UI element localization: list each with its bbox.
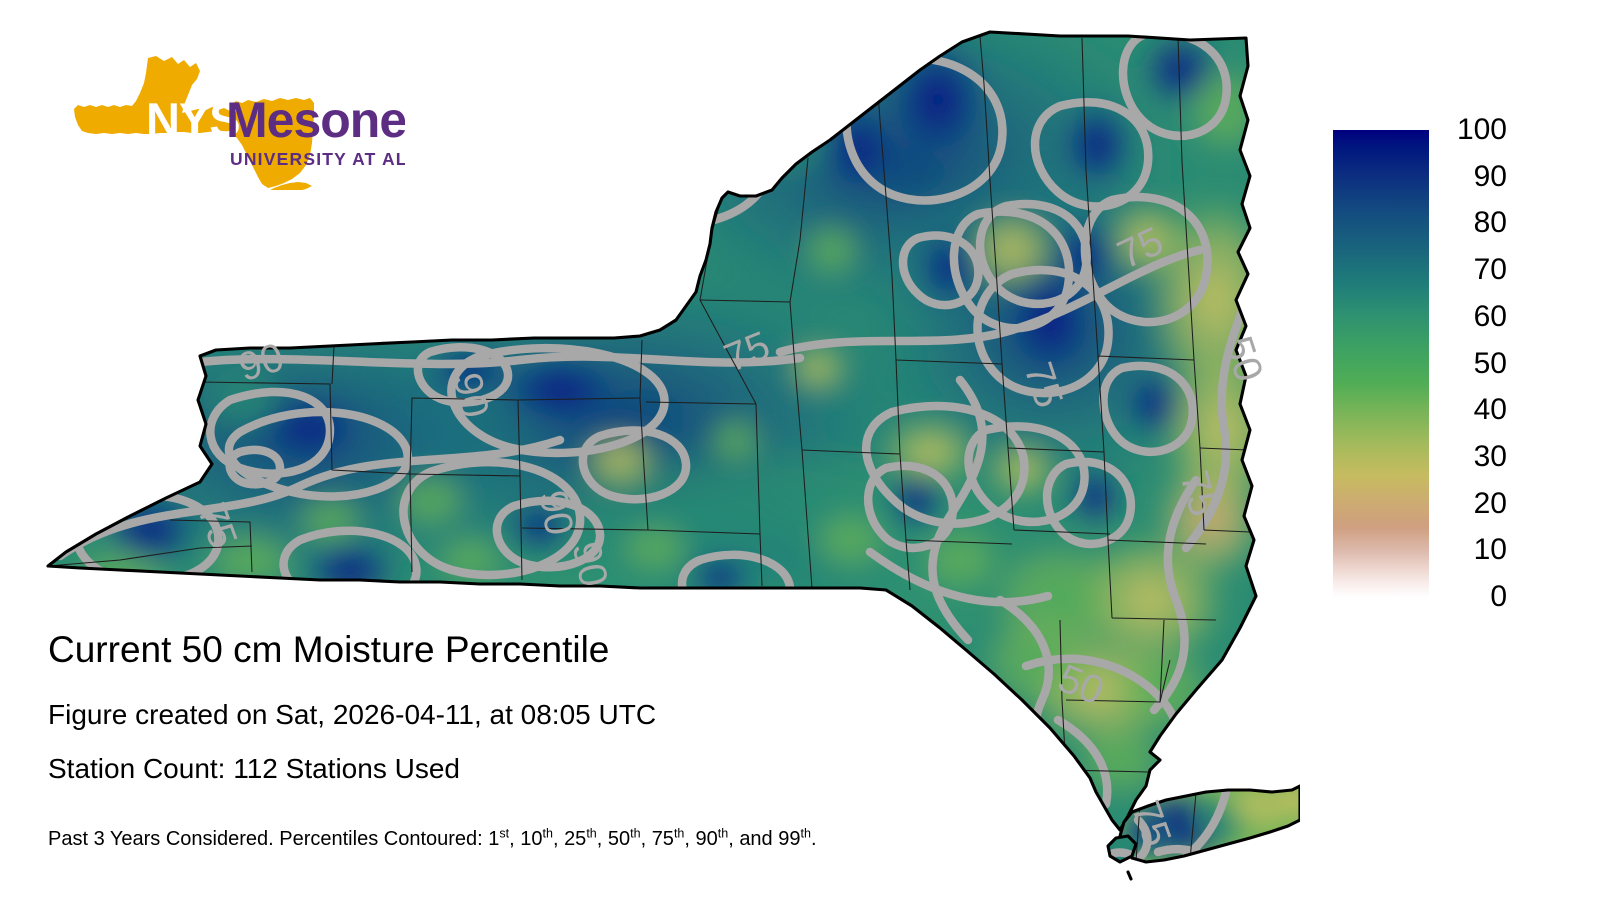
figure-canvas: NYS Mesonet UNIVERSITY AT ALBANY bbox=[0, 0, 1600, 900]
colorbar-tick-70: 70 bbox=[1437, 255, 1507, 285]
page-title: Current 50 cm Moisture Percentile bbox=[48, 628, 609, 672]
colorbar-tick-50: 50 bbox=[1437, 349, 1507, 379]
colorbar-tick-60: 60 bbox=[1437, 302, 1507, 332]
colorbar-tick-30: 30 bbox=[1437, 442, 1507, 472]
contour-label-90: 90 bbox=[445, 369, 497, 422]
percentile-level-10: 10th bbox=[520, 828, 553, 850]
colorbar-tick-0: 0 bbox=[1437, 582, 1507, 612]
percentile-level-50: 50th bbox=[608, 828, 641, 850]
colorbar bbox=[1333, 130, 1429, 597]
footnote-line: Past 3 Years Considered. Percentiles Con… bbox=[48, 826, 817, 852]
colorbar-tick-labels: 1009080706050403020100 bbox=[1437, 100, 1557, 640]
station-count-line: Station Count: 112 Stations Used bbox=[48, 752, 460, 786]
colorbar-tick-10: 10 bbox=[1437, 535, 1507, 565]
percentile-level-99: 99th bbox=[778, 828, 811, 850]
colorbar-tick-20: 20 bbox=[1437, 489, 1507, 519]
colorbar-tick-80: 80 bbox=[1437, 208, 1507, 238]
colorbar-tick-40: 40 bbox=[1437, 395, 1507, 425]
percentile-level-75: 75th bbox=[652, 828, 685, 850]
colorbar-tick-90: 90 bbox=[1437, 162, 1507, 192]
percentile-level-1: 1st bbox=[488, 828, 509, 850]
percentile-level-90: 90th bbox=[696, 828, 729, 850]
contour-label-90: 90 bbox=[564, 538, 616, 591]
colorbar-gradient bbox=[1333, 130, 1429, 597]
contour-label-90: 90 bbox=[530, 487, 581, 538]
figure-created-line: Figure created on Sat, 2026-04-11, at 08… bbox=[48, 698, 656, 732]
percentile-level-25: 25th bbox=[564, 828, 597, 850]
coastline-marker bbox=[1128, 872, 1131, 879]
colorbar-tick-100: 100 bbox=[1437, 115, 1507, 145]
